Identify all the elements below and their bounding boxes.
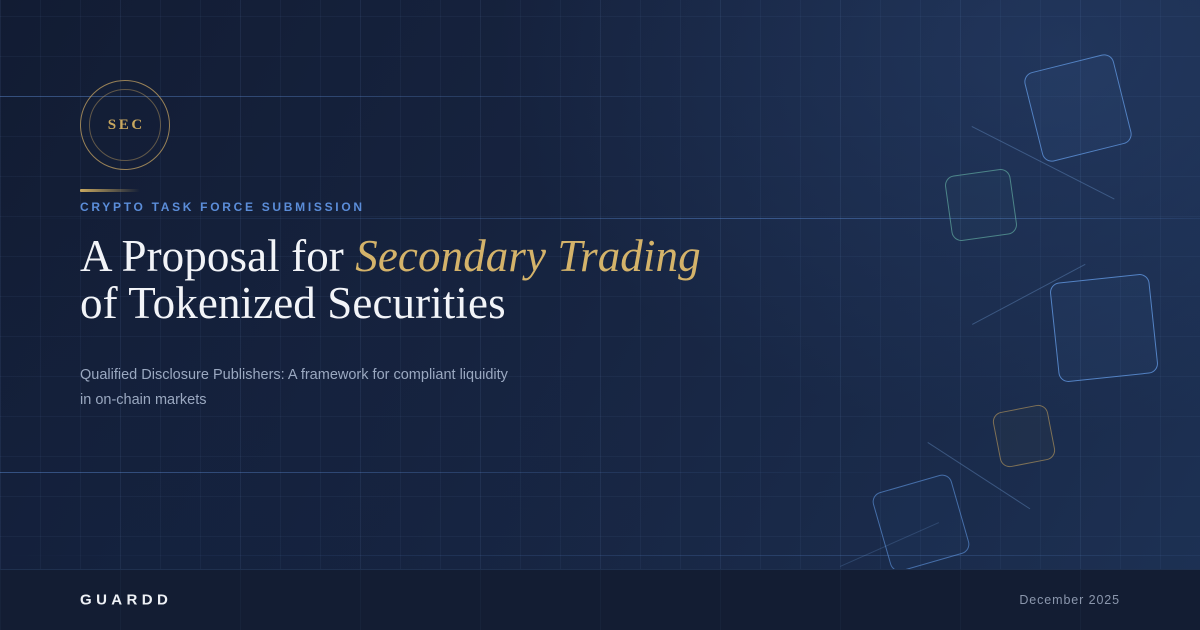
page-subtitle: Qualified Disclosure Publishers: A frame…: [80, 363, 640, 413]
accent-rule-3: [0, 472, 1200, 473]
eyebrow-label: CRYPTO TASK FORCE SUBMISSION: [80, 200, 365, 214]
cover-canvas: SEC CRYPTO TASK FORCE SUBMISSION A Propo…: [0, 0, 1200, 630]
headline-accent: Secondary Trading: [355, 231, 700, 281]
seal-label: SEC: [80, 80, 170, 170]
deco-square-1: [1022, 52, 1134, 164]
accent-rule-4: [0, 555, 1200, 556]
deco-square-5: [870, 472, 971, 573]
subtitle-line-2: in on-chain markets: [80, 392, 207, 408]
deco-square-4: [991, 403, 1057, 469]
subtitle-line-1: Qualified Disclosure Publishers: A frame…: [80, 367, 508, 383]
gold-accent-bar: [80, 189, 140, 192]
headline-part-2: of Tokenized Securities: [80, 278, 506, 328]
deco-square-3: [1049, 273, 1159, 383]
connector-line-3: [927, 442, 1030, 509]
deco-square-2: [944, 168, 1019, 243]
connector-line-2: [972, 264, 1085, 325]
sec-seal-icon: SEC: [80, 80, 170, 170]
connector-line-4: [840, 522, 939, 567]
accent-rule-2: [0, 218, 1200, 219]
page-title: A Proposal for Secondary Tradingof Token…: [80, 233, 820, 327]
accent-rule-1: [0, 96, 1200, 97]
footer-bar: GUARDD December 2025: [0, 569, 1200, 630]
connector-line-1: [972, 126, 1115, 200]
brand-wordmark: GUARDD: [80, 592, 172, 609]
headline-part-1: A Proposal for: [80, 231, 355, 281]
footer-date: December 2025: [1019, 593, 1120, 607]
